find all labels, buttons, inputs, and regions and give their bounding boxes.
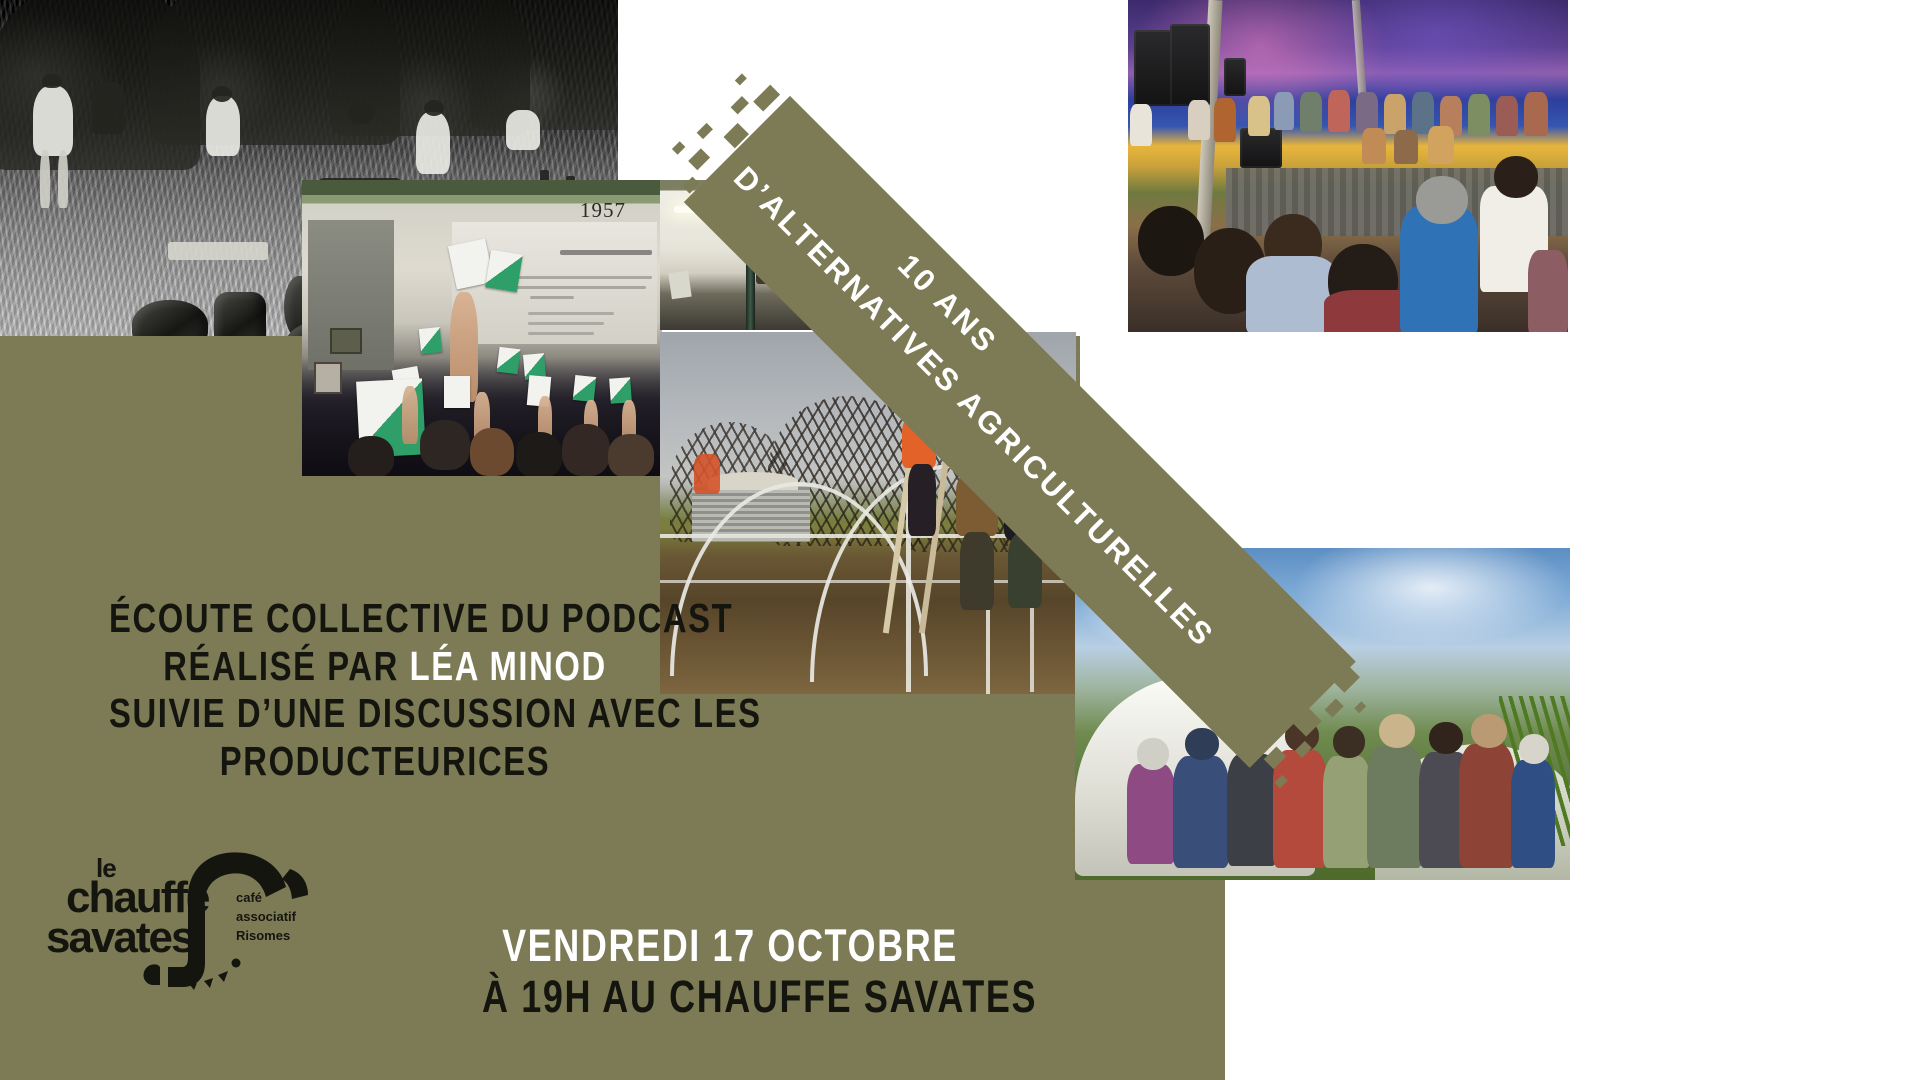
body-copy-line-1: ÉCOUTE COLLECTIVE DU PODCAST [109,595,661,643]
body-copy-line-4: PRODUCTEURICES [109,738,661,786]
chauffe-savates-logo: le chauffe savates café associatif Risom… [40,845,310,990]
body-copy-line-2-prefix: RÉALISÉ PAR [163,643,409,689]
podcast-author-name: LÉA MINOD [410,643,607,689]
logo-subtitle-line-1: café [236,889,296,908]
poster-canvas: 1957 [0,0,1920,1080]
logo-word-savates: savates [46,913,193,963]
body-copy-line-3: SUIVIE D’UNE DISCUSSION AVEC LES [109,690,661,738]
festival-tent-crowd-photo [1128,0,1568,332]
audience-raising-cards-photo: 1957 [302,180,662,476]
event-time-venue: À 19H AU CHAUFFE SAVATES [482,971,978,1022]
olive-background-bottom-strip [1075,860,1225,1080]
slide-year-label: 1957 [580,198,626,223]
body-copy: ÉCOUTE COLLECTIVE DU PODCAST RÉALISÉ PAR… [40,595,730,785]
event-date-block: VENDREDI 17 OCTOBRE À 19H AU CHAUFFE SAV… [420,920,1040,1023]
logo-subtitle-line-2: associatif [236,908,296,927]
event-date: VENDREDI 17 OCTOBRE [482,920,978,971]
logo-subtitle: café associatif Risomes [236,889,296,946]
logo-subtitle-line-3: Risomes [236,927,296,946]
body-copy-line-2: RÉALISÉ PAR LÉA MINOD [109,643,661,691]
